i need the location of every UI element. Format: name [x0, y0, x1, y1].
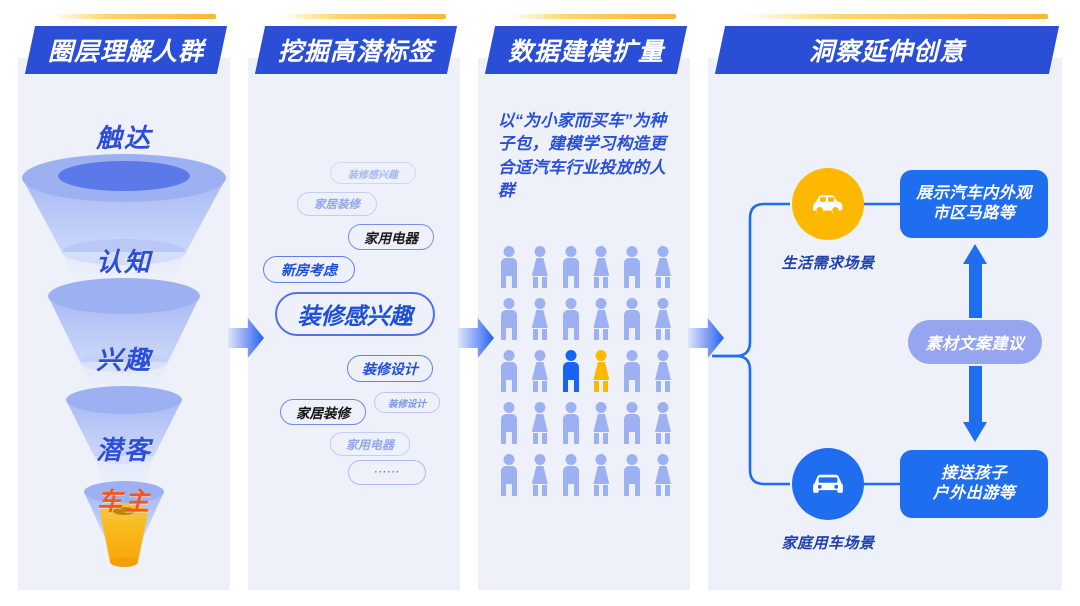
panel-header-2: 挖掘高潜标签: [260, 26, 452, 74]
person-female-icon: [529, 350, 551, 392]
person-male-icon: [498, 246, 520, 288]
people-row: [498, 350, 674, 394]
header-accent-line: [282, 14, 446, 19]
header-accent-line: [742, 14, 1048, 19]
infographic-canvas: 圈层理解人群 挖掘高潜标签 数据建模扩量 洞察延伸创意: [0, 0, 1080, 606]
arrow-down-shaft: [969, 366, 982, 422]
panel-header-3: 数据建模扩量: [490, 26, 682, 74]
funnel-stage-label-interest: 兴趣: [18, 340, 230, 377]
person-male-highlight-icon: [560, 350, 582, 392]
creative-box-bottom-line1: 接送孩子: [941, 464, 1007, 484]
person-female-icon: [652, 454, 674, 496]
person-female-icon: [529, 454, 551, 496]
person-male-icon: [621, 246, 643, 288]
person-female-icon: [652, 402, 674, 444]
conversion-funnel: 触达 认知 兴趣 潜客 车主: [18, 100, 230, 570]
people-row: [498, 402, 674, 446]
tag-chip-featured[interactable]: 装修感兴趣: [275, 292, 435, 336]
panel-title-3: 数据建模扩量: [490, 26, 682, 74]
panel-title-4: 洞察延伸创意: [720, 26, 1054, 74]
life-need-scene-icon-badge[interactable]: [792, 168, 864, 240]
creative-box-top-line2: 市区马路等: [933, 204, 1016, 224]
person-male-icon: [621, 454, 643, 496]
tag-chip[interactable]: 家居装修: [280, 399, 366, 425]
creative-box-bottom[interactable]: 接送孩子 户外出游等: [900, 450, 1048, 518]
panel-title-1: 圈层理解人群: [30, 26, 222, 74]
person-male-icon: [560, 298, 582, 340]
person-female-icon: [529, 298, 551, 340]
panel-title-2: 挖掘高潜标签: [260, 26, 452, 74]
tag-chip[interactable]: 装修设计: [347, 355, 433, 382]
person-male-icon: [560, 246, 582, 288]
person-female-icon: [590, 246, 612, 288]
person-male-icon: [560, 454, 582, 496]
person-male-icon: [498, 350, 520, 392]
tag-chip[interactable]: 装修感兴趣: [330, 162, 416, 184]
person-male-icon: [621, 402, 643, 444]
person-female-highlight-icon: [590, 350, 612, 392]
header-accent-line: [52, 14, 216, 19]
person-female-icon: [590, 402, 612, 444]
creative-mindmap: 生活需求场景 家庭用车场景 展示汽车内外观 市区马路等 接送孩子 户外出游等 素…: [708, 58, 1062, 590]
person-male-icon: [560, 402, 582, 444]
arrow-up-shaft: [969, 262, 982, 318]
tag-chip[interactable]: 新房考虑: [263, 256, 355, 283]
modeling-description: 以“为小家而买车”为种子包，建模学习构造更合适汽车行业投放的人群: [498, 110, 678, 204]
funnel-stage-label-reach: 触达: [18, 118, 230, 155]
person-female-icon: [529, 246, 551, 288]
creative-box-top-line1: 展示汽车内外观: [916, 184, 1032, 204]
people-row: [498, 298, 674, 342]
person-female-icon: [590, 298, 612, 340]
audience-people-grid: [498, 246, 674, 508]
panel-header-4: 洞察延伸创意: [720, 26, 1054, 74]
person-female-icon: [652, 298, 674, 340]
arrow-up-head: [963, 244, 987, 264]
tag-chip[interactable]: 家用电器: [348, 224, 434, 250]
creative-box-top[interactable]: 展示汽车内外观 市区马路等: [900, 170, 1048, 238]
person-female-icon: [529, 402, 551, 444]
person-male-icon: [498, 298, 520, 340]
person-male-icon: [498, 454, 520, 496]
tag-chip-ellipsis[interactable]: ······: [348, 460, 426, 485]
person-female-icon: [652, 246, 674, 288]
person-female-icon: [652, 350, 674, 392]
panel-header-1: 圈层理解人群: [30, 26, 222, 74]
person-male-icon: [621, 350, 643, 392]
car-side-icon: [807, 183, 849, 225]
funnel-stage-label-awareness: 认知: [18, 242, 230, 279]
tag-chip[interactable]: 家居装修: [297, 192, 377, 216]
creative-box-bottom-line2: 户外出游等: [933, 484, 1016, 504]
person-male-icon: [621, 298, 643, 340]
funnel-stage-label-owner: 车主: [18, 482, 230, 518]
header-accent-line: [512, 14, 676, 19]
arrow-down-head: [963, 422, 987, 442]
person-male-icon: [498, 402, 520, 444]
creative-suggestion-pill[interactable]: 素材文案建议: [908, 320, 1042, 364]
family-car-scene-icon-badge[interactable]: [792, 448, 864, 520]
tag-chip[interactable]: 装修设计: [374, 392, 440, 413]
family-car-scene-label: 家庭用车场景: [743, 532, 913, 553]
life-need-scene-label: 生活需求场景: [743, 252, 913, 273]
people-row: [498, 454, 674, 498]
tag-chip[interactable]: 家用电器: [330, 432, 410, 456]
person-female-icon: [590, 454, 612, 496]
car-front-icon: [807, 463, 849, 505]
people-row: [498, 246, 674, 290]
funnel-stage-label-prospect: 潜客: [18, 430, 230, 467]
